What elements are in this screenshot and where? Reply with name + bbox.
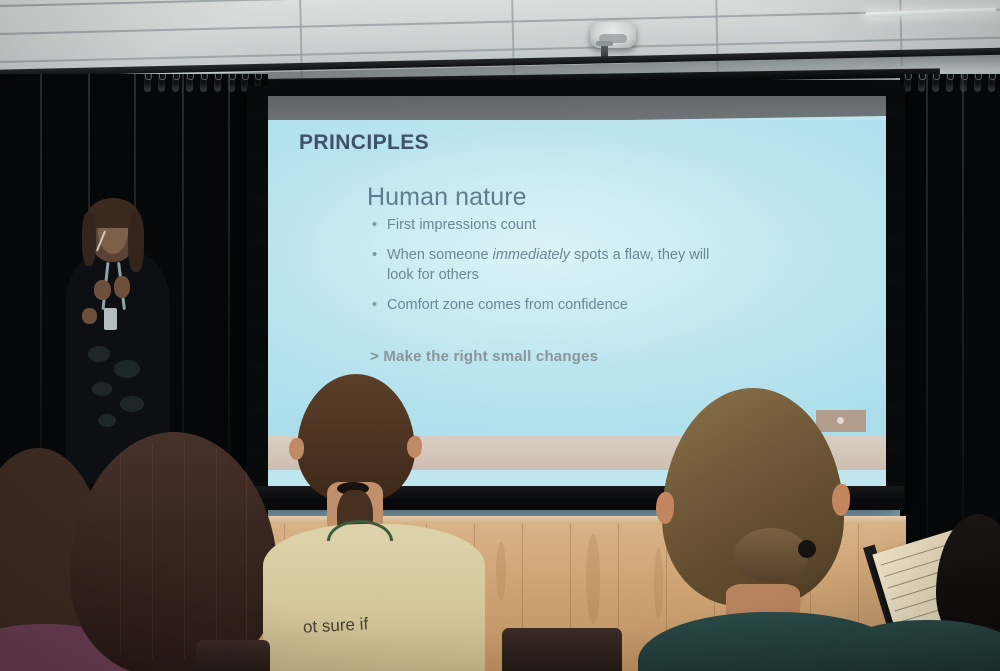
slide-bullet-item: First impressions count [387, 215, 730, 236]
slide-bullet-list: First impressions count When someone imm… [370, 215, 730, 324]
badge [104, 308, 117, 330]
tshirt [263, 524, 485, 671]
slide-bullet-item: Comfort zone comes from confidence [387, 295, 730, 316]
ear [656, 492, 674, 524]
hair-bun [734, 528, 808, 582]
ear [289, 438, 304, 460]
audience-member-dark-long-hair [60, 432, 290, 671]
presenter-hair [82, 212, 96, 266]
chair [502, 628, 622, 671]
presenter-hand [114, 276, 130, 298]
presenter-hand [94, 280, 111, 300]
ear [407, 436, 422, 458]
audience-member-ponytail: ot sure if [275, 374, 485, 671]
presenter-hair [128, 212, 144, 272]
slide-footer: > Make the right small changes [370, 348, 598, 365]
ear [832, 484, 850, 516]
slide-title: PRINCIPLES [299, 131, 429, 155]
slide-heading: Human nature [367, 183, 527, 212]
presenter-hand [82, 308, 97, 324]
hair-tie [798, 540, 816, 558]
tshirt-text: ot sure if [303, 614, 369, 637]
curtain-hook-row [900, 74, 1000, 100]
presentation-photo-scene: PRINCIPLES Human nature First impression… [0, 0, 1000, 671]
chair [196, 640, 270, 671]
slide-bullet-item: When someone immediately spots a flaw, t… [387, 245, 730, 286]
